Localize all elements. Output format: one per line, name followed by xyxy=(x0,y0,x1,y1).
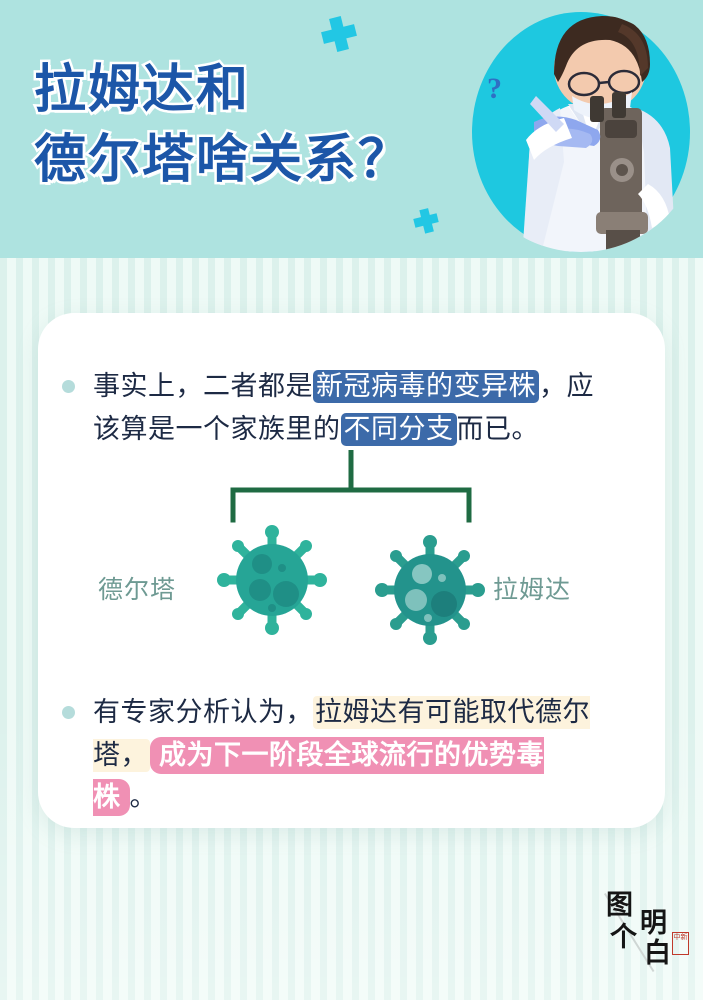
logo-char-2: 个 xyxy=(610,924,637,951)
bullet-dot-icon-2 xyxy=(62,706,75,719)
bullet-dot-icon-1 xyxy=(62,380,75,393)
logo-char-1: 图 xyxy=(606,892,633,919)
virus-label-right: 拉姆达 xyxy=(493,570,571,606)
brand-logo: 图 个 明 白 中新 xyxy=(600,888,692,978)
decor-cross-icon-2 xyxy=(413,213,438,228)
p1-seg-4: 而已。 xyxy=(457,414,540,445)
virus-relationship-diagram: 德尔塔 拉姆达 xyxy=(38,450,665,660)
infographic-poster: ? xyxy=(0,0,703,1000)
paragraph-2-text: 有专家分析认为，拉姆达有可能取代德尔塔，成为下一阶段全球流行的优势毒株。 xyxy=(93,692,607,820)
p1-highlight-2: 不同分支 xyxy=(341,413,457,446)
p2-seg-0: 有专家分析认为， xyxy=(93,697,313,728)
bullet-item-1: 事实上，二者都是新冠病毒的变异株，应该算是一个家族里的不同分支而已。 xyxy=(62,366,602,451)
bullet-item-2: 有专家分析认为，拉姆达有可能取代德尔塔，成为下一阶段全球流行的优势毒株。 xyxy=(62,692,607,820)
p1-seg-0: 事实上，二者都是 xyxy=(93,371,313,402)
header-banner: ? xyxy=(0,0,703,258)
virus-icon-delta xyxy=(210,518,334,642)
scientist-microscope-illustration xyxy=(472,12,703,258)
virus-icon-lambda xyxy=(368,528,492,652)
page-title: 拉姆达和 德尔塔啥关系？ xyxy=(34,55,412,195)
p1-highlight-1: 新冠病毒的变异株 xyxy=(313,370,539,403)
page-title-line-2: 德尔塔啥关系？ xyxy=(34,125,412,195)
bracket-connector-icon xyxy=(38,450,665,530)
logo-seal-stamp: 中新 xyxy=(672,932,689,955)
logo-char-4: 白 xyxy=(644,940,671,967)
logo-char-3: 明 xyxy=(640,910,667,937)
virus-label-left: 德尔塔 xyxy=(98,570,176,606)
p2-seg-3: 。 xyxy=(130,782,158,813)
page-title-line-1: 拉姆达和 xyxy=(34,55,412,125)
p2-highlight-pink: 成为下一阶段全球流行的优势毒株 xyxy=(93,737,544,817)
decor-cross-icon-1 xyxy=(321,24,357,44)
paragraph-1-text: 事实上，二者都是新冠病毒的变异株，应该算是一个家族里的不同分支而已。 xyxy=(93,366,602,451)
